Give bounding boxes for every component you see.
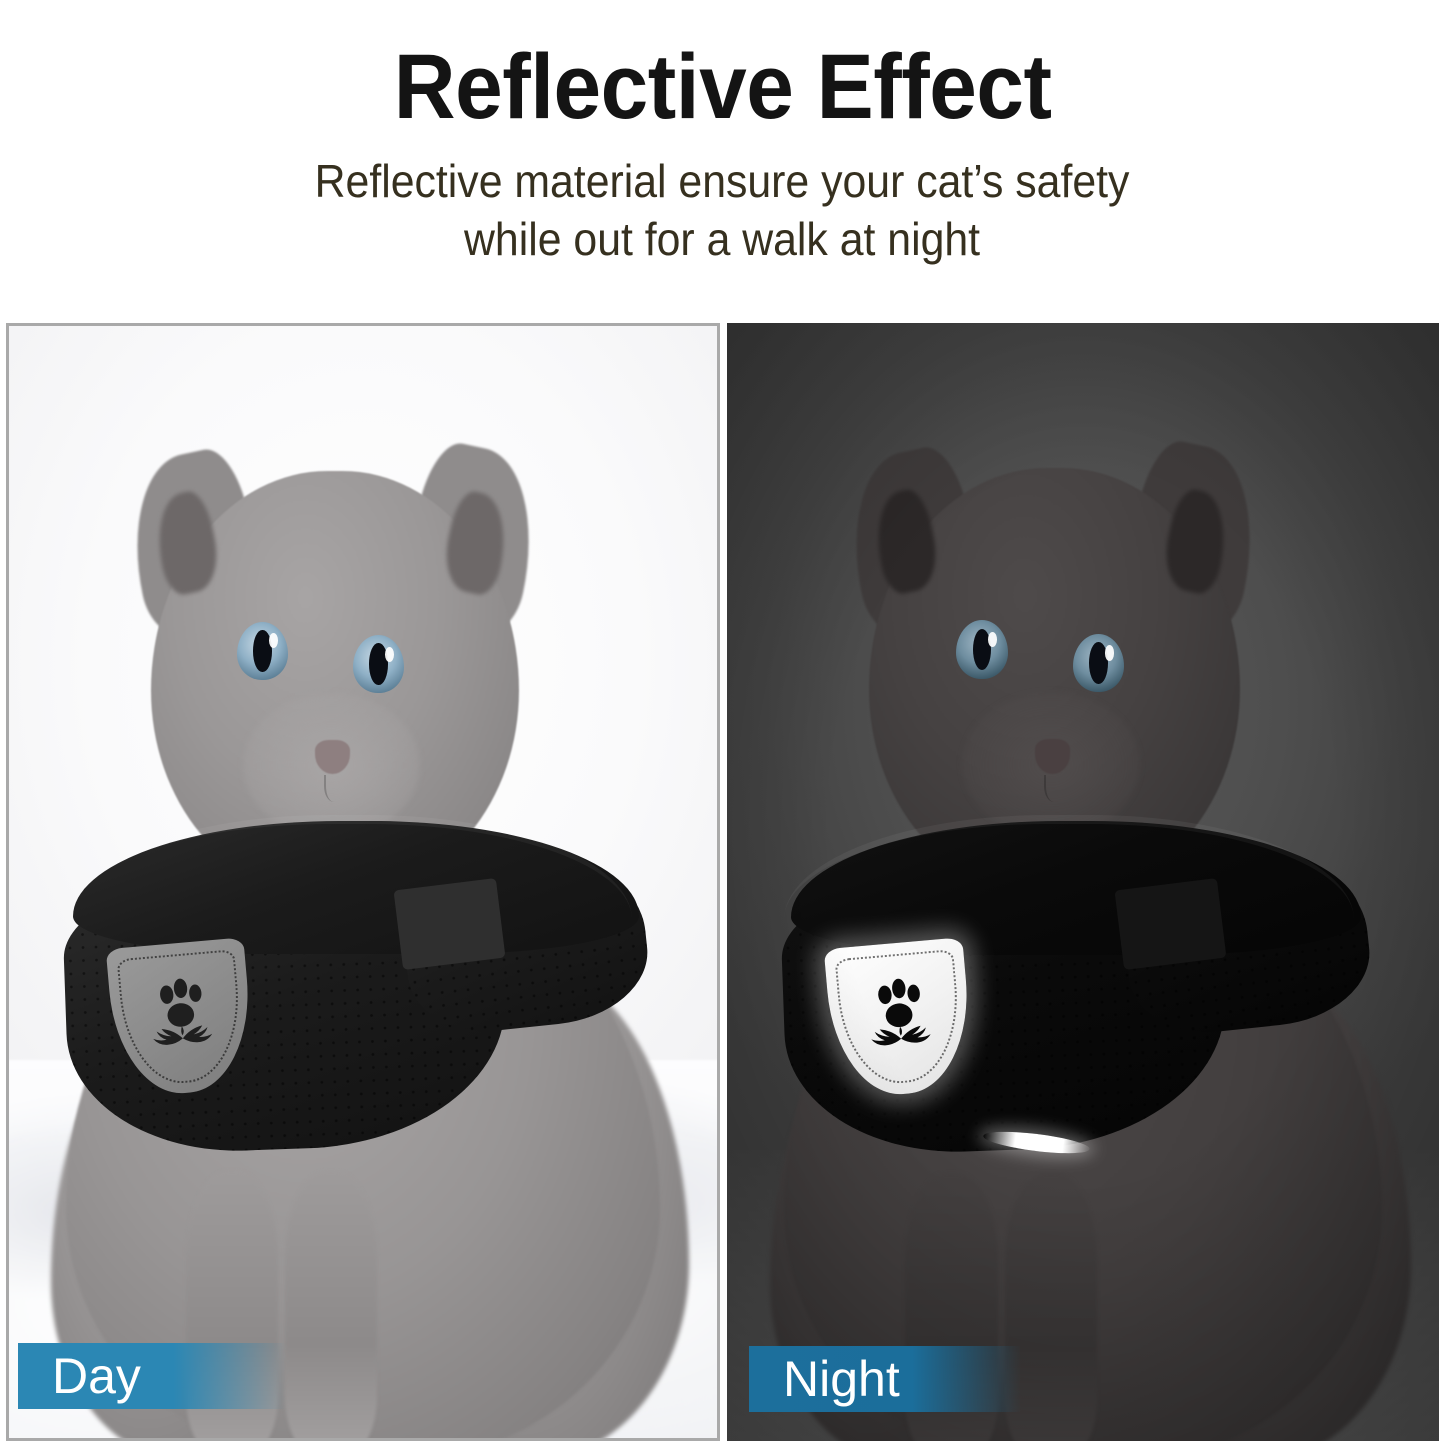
page-title: Reflective Effect	[394, 38, 1052, 137]
subtitle-line-2: while out for a walk at night	[315, 211, 1130, 269]
harness-collar-rim	[66, 815, 632, 960]
cat-harness-night	[727, 323, 1439, 1441]
night-badge: Night	[749, 1346, 1021, 1412]
harness-collar-rim	[784, 815, 1354, 960]
night-photo-panel: Night	[727, 323, 1439, 1441]
day-photo-panel: Day	[6, 323, 720, 1441]
subtitle-line-1: Reflective material ensure your cat’s sa…	[315, 153, 1130, 211]
day-badge: Day	[18, 1343, 286, 1409]
cat-harness-day	[9, 326, 717, 1438]
day-badge-label: Day	[52, 1351, 141, 1401]
reflective-effect-product-graphic: Reflective Effect Reflective material en…	[0, 0, 1445, 1445]
harness-velcro-strap	[394, 878, 506, 970]
page-subtitle: Reflective material ensure your cat’s sa…	[315, 153, 1130, 268]
comparison-panels: Day	[0, 323, 1445, 1445]
paw-print-icon	[125, 960, 236, 1077]
header: Reflective Effect Reflective material en…	[0, 0, 1445, 323]
harness-velcro-strap	[1114, 878, 1226, 970]
paw-print-icon	[844, 960, 956, 1077]
night-badge-label: Night	[783, 1354, 900, 1404]
